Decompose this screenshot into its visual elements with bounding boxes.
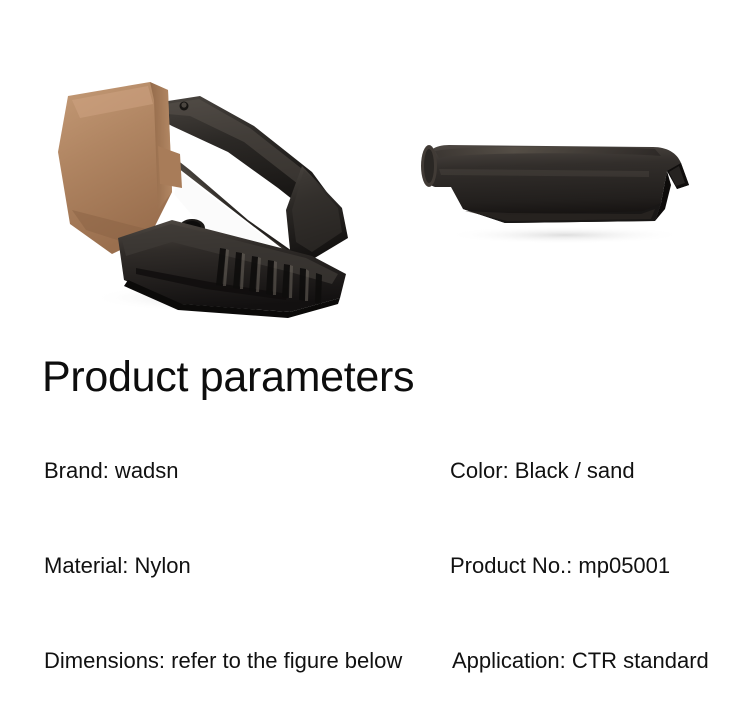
product-photo-rifle-stock[interactable] <box>40 60 380 320</box>
parameter-color: Color: Black / sand <box>450 458 635 484</box>
product-image-gallery <box>0 0 750 340</box>
parameter-row: Brand: wadsn Color: Black / sand <box>0 440 750 535</box>
parameter-material: Material: Nylon <box>44 553 191 579</box>
black-cheek-riser-illustration <box>405 125 715 250</box>
page-title: Product parameters <box>42 356 414 399</box>
rifle-stock-illustration <box>40 60 380 320</box>
parameter-brand: Brand: wadsn <box>44 458 179 484</box>
parameter-product-no: Product No.: mp05001 <box>450 553 670 579</box>
parameter-row: Material: Nylon Product No.: mp05001 <box>0 535 750 630</box>
parameter-dimensions: Dimensions: refer to the figure below <box>44 648 402 674</box>
product-parameters-list: Brand: wadsn Color: Black / sand Materia… <box>0 440 750 725</box>
parameter-application: Application: CTR standard <box>452 648 709 674</box>
product-photo-black-cheek-riser[interactable] <box>405 125 715 250</box>
parameter-row: Dimensions: refer to the figure below Ap… <box>0 630 750 725</box>
